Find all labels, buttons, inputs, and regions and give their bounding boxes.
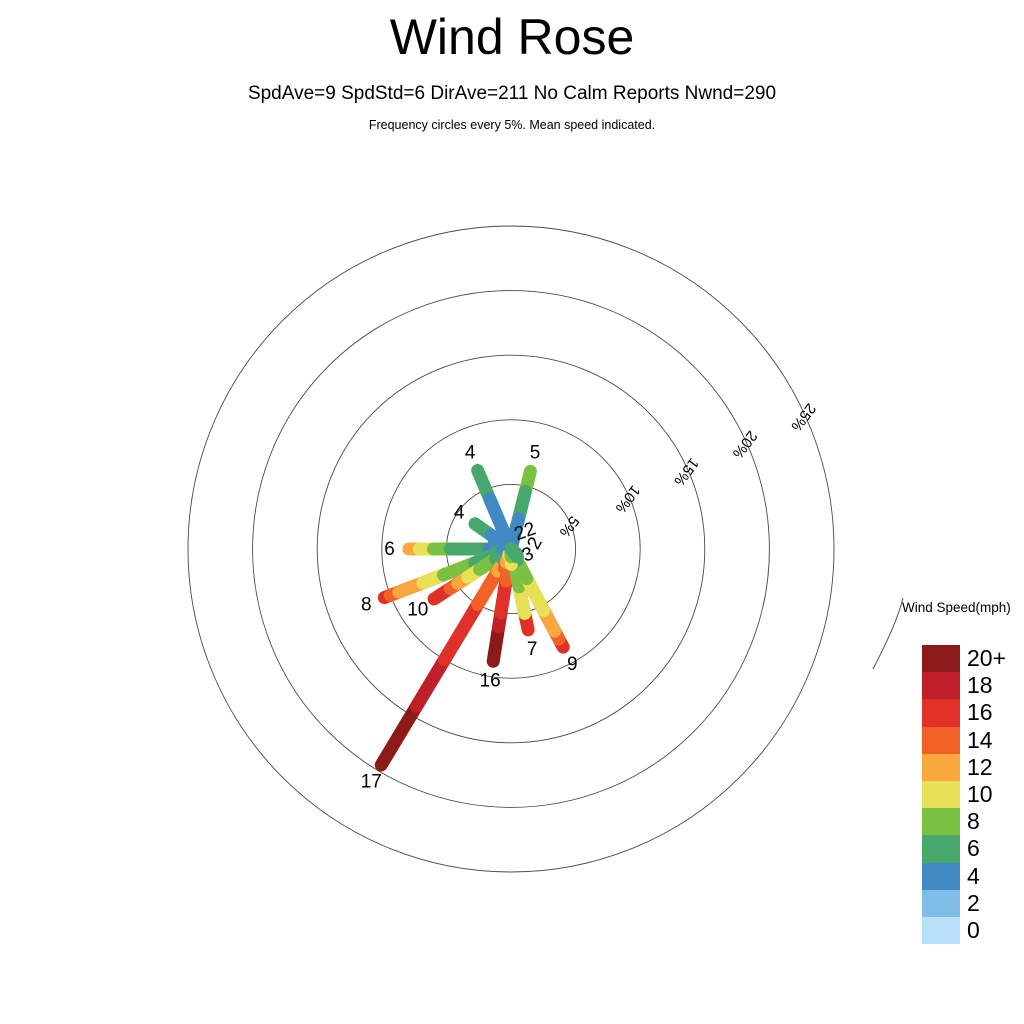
legend-row: 18 <box>922 672 1023 699</box>
legend-swatch <box>922 917 960 944</box>
legend-label: 4 <box>960 863 1023 890</box>
petal-mean-speed-label: 9 <box>567 654 578 675</box>
legend-leader-line <box>873 598 903 669</box>
legend-swatch <box>922 699 960 726</box>
legend-row: 14 <box>922 727 1023 754</box>
ring-labels: 5%10%15%20%25% <box>556 400 819 540</box>
legend-label: 8 <box>960 808 1023 835</box>
legend-row: 8 <box>922 808 1023 835</box>
legend-row: 12 <box>922 754 1023 781</box>
ring-percent-label: 25% <box>787 400 819 434</box>
legend-swatch <box>922 645 960 672</box>
legend-swatch <box>922 863 960 890</box>
wind-rose-page: Wind Rose SpdAve=9 SpdStd=6 DirAve=211 N… <box>0 0 1024 1024</box>
legend-row: 20+ <box>922 645 1023 672</box>
ring-percent-label: 20% <box>729 427 761 461</box>
legend-label: 6 <box>960 835 1023 862</box>
petal-mean-speed-label: 17 <box>361 772 382 793</box>
legend-label: 12 <box>960 754 1023 781</box>
legend-label: 20+ <box>960 645 1023 672</box>
legend-row: 4 <box>922 863 1023 890</box>
petal-mean-speed-label: 4 <box>454 503 465 524</box>
petal-mean-speed-label: 5 <box>530 442 541 463</box>
petal-mean-speed-label: 6 <box>384 539 395 560</box>
legend-row: 2 <box>922 890 1023 917</box>
legend-label: 10 <box>960 781 1023 808</box>
legend-label: 14 <box>960 727 1023 754</box>
legend-label: 0 <box>960 917 1023 944</box>
legend-row: 6 <box>922 835 1023 862</box>
wind-rose-plot: 5%10%15%20%25% 4546810171679 2223 <box>0 0 1024 1024</box>
petal-mean-speed-label: 8 <box>361 595 372 616</box>
legend-swatch <box>922 781 960 808</box>
petal-mean-speed-label: 7 <box>527 639 538 660</box>
ring-percent-label: 10% <box>612 482 644 516</box>
legend-title: Wind Speed(mph) <box>902 600 1024 615</box>
ring-percent-label: 15% <box>670 455 702 489</box>
legend-swatch <box>922 727 960 754</box>
petal-mean-speed-label: 10 <box>407 600 428 621</box>
petal-mean-speed-label: 16 <box>480 670 501 691</box>
legend-swatch <box>922 890 960 917</box>
legend-swatch <box>922 672 960 699</box>
legend-swatch <box>922 808 960 835</box>
legend-row: 0 <box>922 917 1023 944</box>
petal-mean-speed-label: 4 <box>465 443 476 464</box>
ring-percent-label: 5% <box>556 513 583 541</box>
legend-row: 16 <box>922 699 1023 726</box>
legend-swatch <box>922 835 960 862</box>
petal-segment <box>511 549 517 554</box>
legend-row: 10 <box>922 781 1023 808</box>
wind-petal <box>511 549 517 554</box>
legend: Wind Speed(mph) 20+181614121086420 <box>900 600 1024 615</box>
legend-swatch <box>922 754 960 781</box>
legend-label: 2 <box>960 890 1023 917</box>
legend-label: 16 <box>960 699 1023 726</box>
legend-entries: 20+181614121086420 <box>922 645 1023 944</box>
legend-label: 18 <box>960 672 1023 699</box>
